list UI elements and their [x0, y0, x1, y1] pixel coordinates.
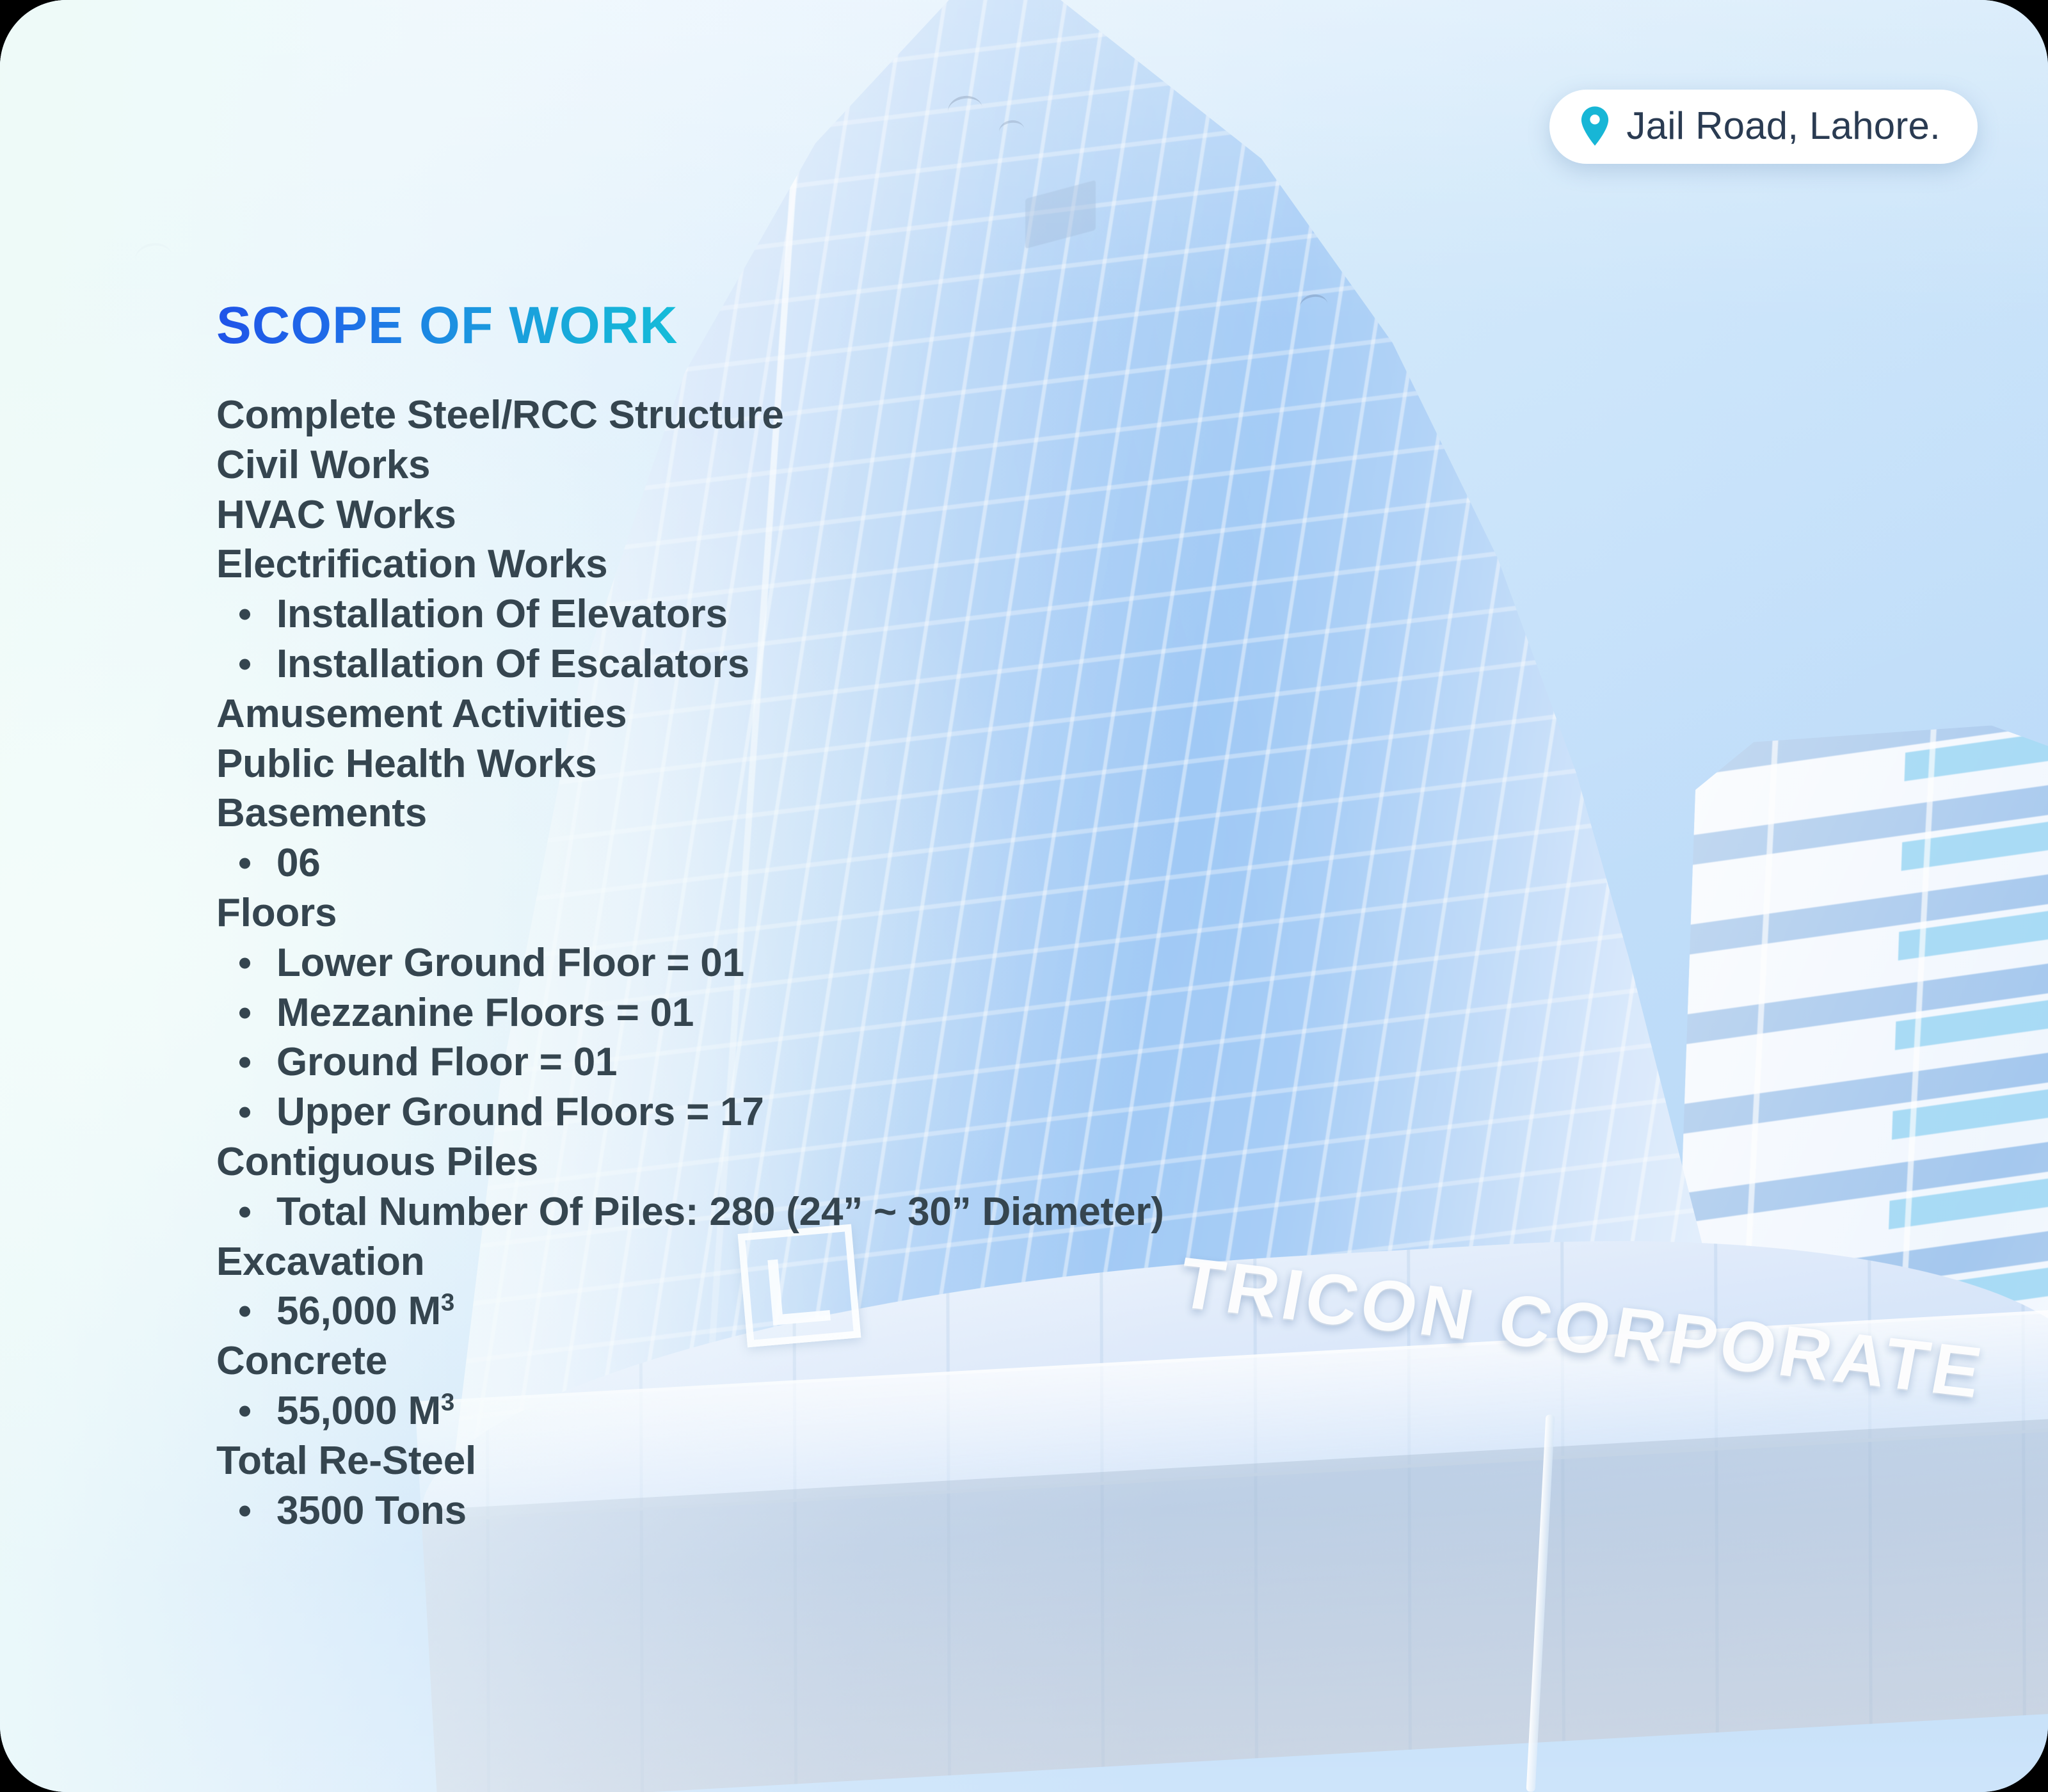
scope-heading-item: Complete Steel/RCC Structure [216, 390, 1816, 440]
scope-bullet-item: Upper Ground Floors = 17 [216, 1087, 1816, 1137]
scope-bullet-item: 55,000 M3 [216, 1386, 1816, 1436]
map-pin-icon [1580, 106, 1610, 146]
location-label: Jail Road, Lahore. [1626, 107, 1940, 145]
scope-bullet-item: Mezzanine Floors = 01 [216, 988, 1816, 1038]
scope-heading-item: Floors [216, 888, 1816, 938]
scope-bullet-item: 3500 Tons [216, 1486, 1816, 1536]
scope-heading-item: Total Re-Steel [216, 1436, 1816, 1486]
location-badge[interactable]: Jail Road, Lahore. [1549, 90, 1978, 164]
scope-bullet-item: Total Number Of Piles: 280 (24” ~ 30” Di… [216, 1187, 1816, 1237]
scope-heading-item: Amusement Activities [216, 689, 1816, 739]
scope-of-work-list: Complete Steel/RCC StructureCivil WorksH… [216, 390, 1816, 1535]
page-title: SCOPE OF WORK [216, 298, 678, 353]
scope-bullet-item: Installation Of Elevators [216, 589, 1816, 639]
scope-bullet-item: 56,000 M3 [216, 1286, 1816, 1336]
project-scope-card: TRICON CORPORATE Jail Road, Lahore. SCOP… [0, 0, 2048, 1792]
scope-bullet-item: Lower Ground Floor = 01 [216, 938, 1816, 988]
scope-heading-item: Contiguous Piles [216, 1137, 1816, 1187]
scope-heading-item: Excavation [216, 1237, 1816, 1287]
scope-heading-item: Public Health Works [216, 739, 1816, 789]
scope-bullet-item: 06 [216, 838, 1816, 888]
scope-bullet-item: Ground Floor = 01 [216, 1037, 1816, 1087]
content-area: SCOPE OF WORK Complete Steel/RCC Structu… [216, 298, 1816, 1535]
scope-heading-item: Basements [216, 788, 1816, 838]
scope-heading-item: Electrification Works [216, 540, 1816, 589]
scope-heading-item: Civil Works [216, 440, 1816, 490]
scope-heading-item: Concrete [216, 1336, 1816, 1386]
scope-heading-item: HVAC Works [216, 490, 1816, 540]
scope-bullet-item: Installation Of Escalators [216, 639, 1816, 689]
